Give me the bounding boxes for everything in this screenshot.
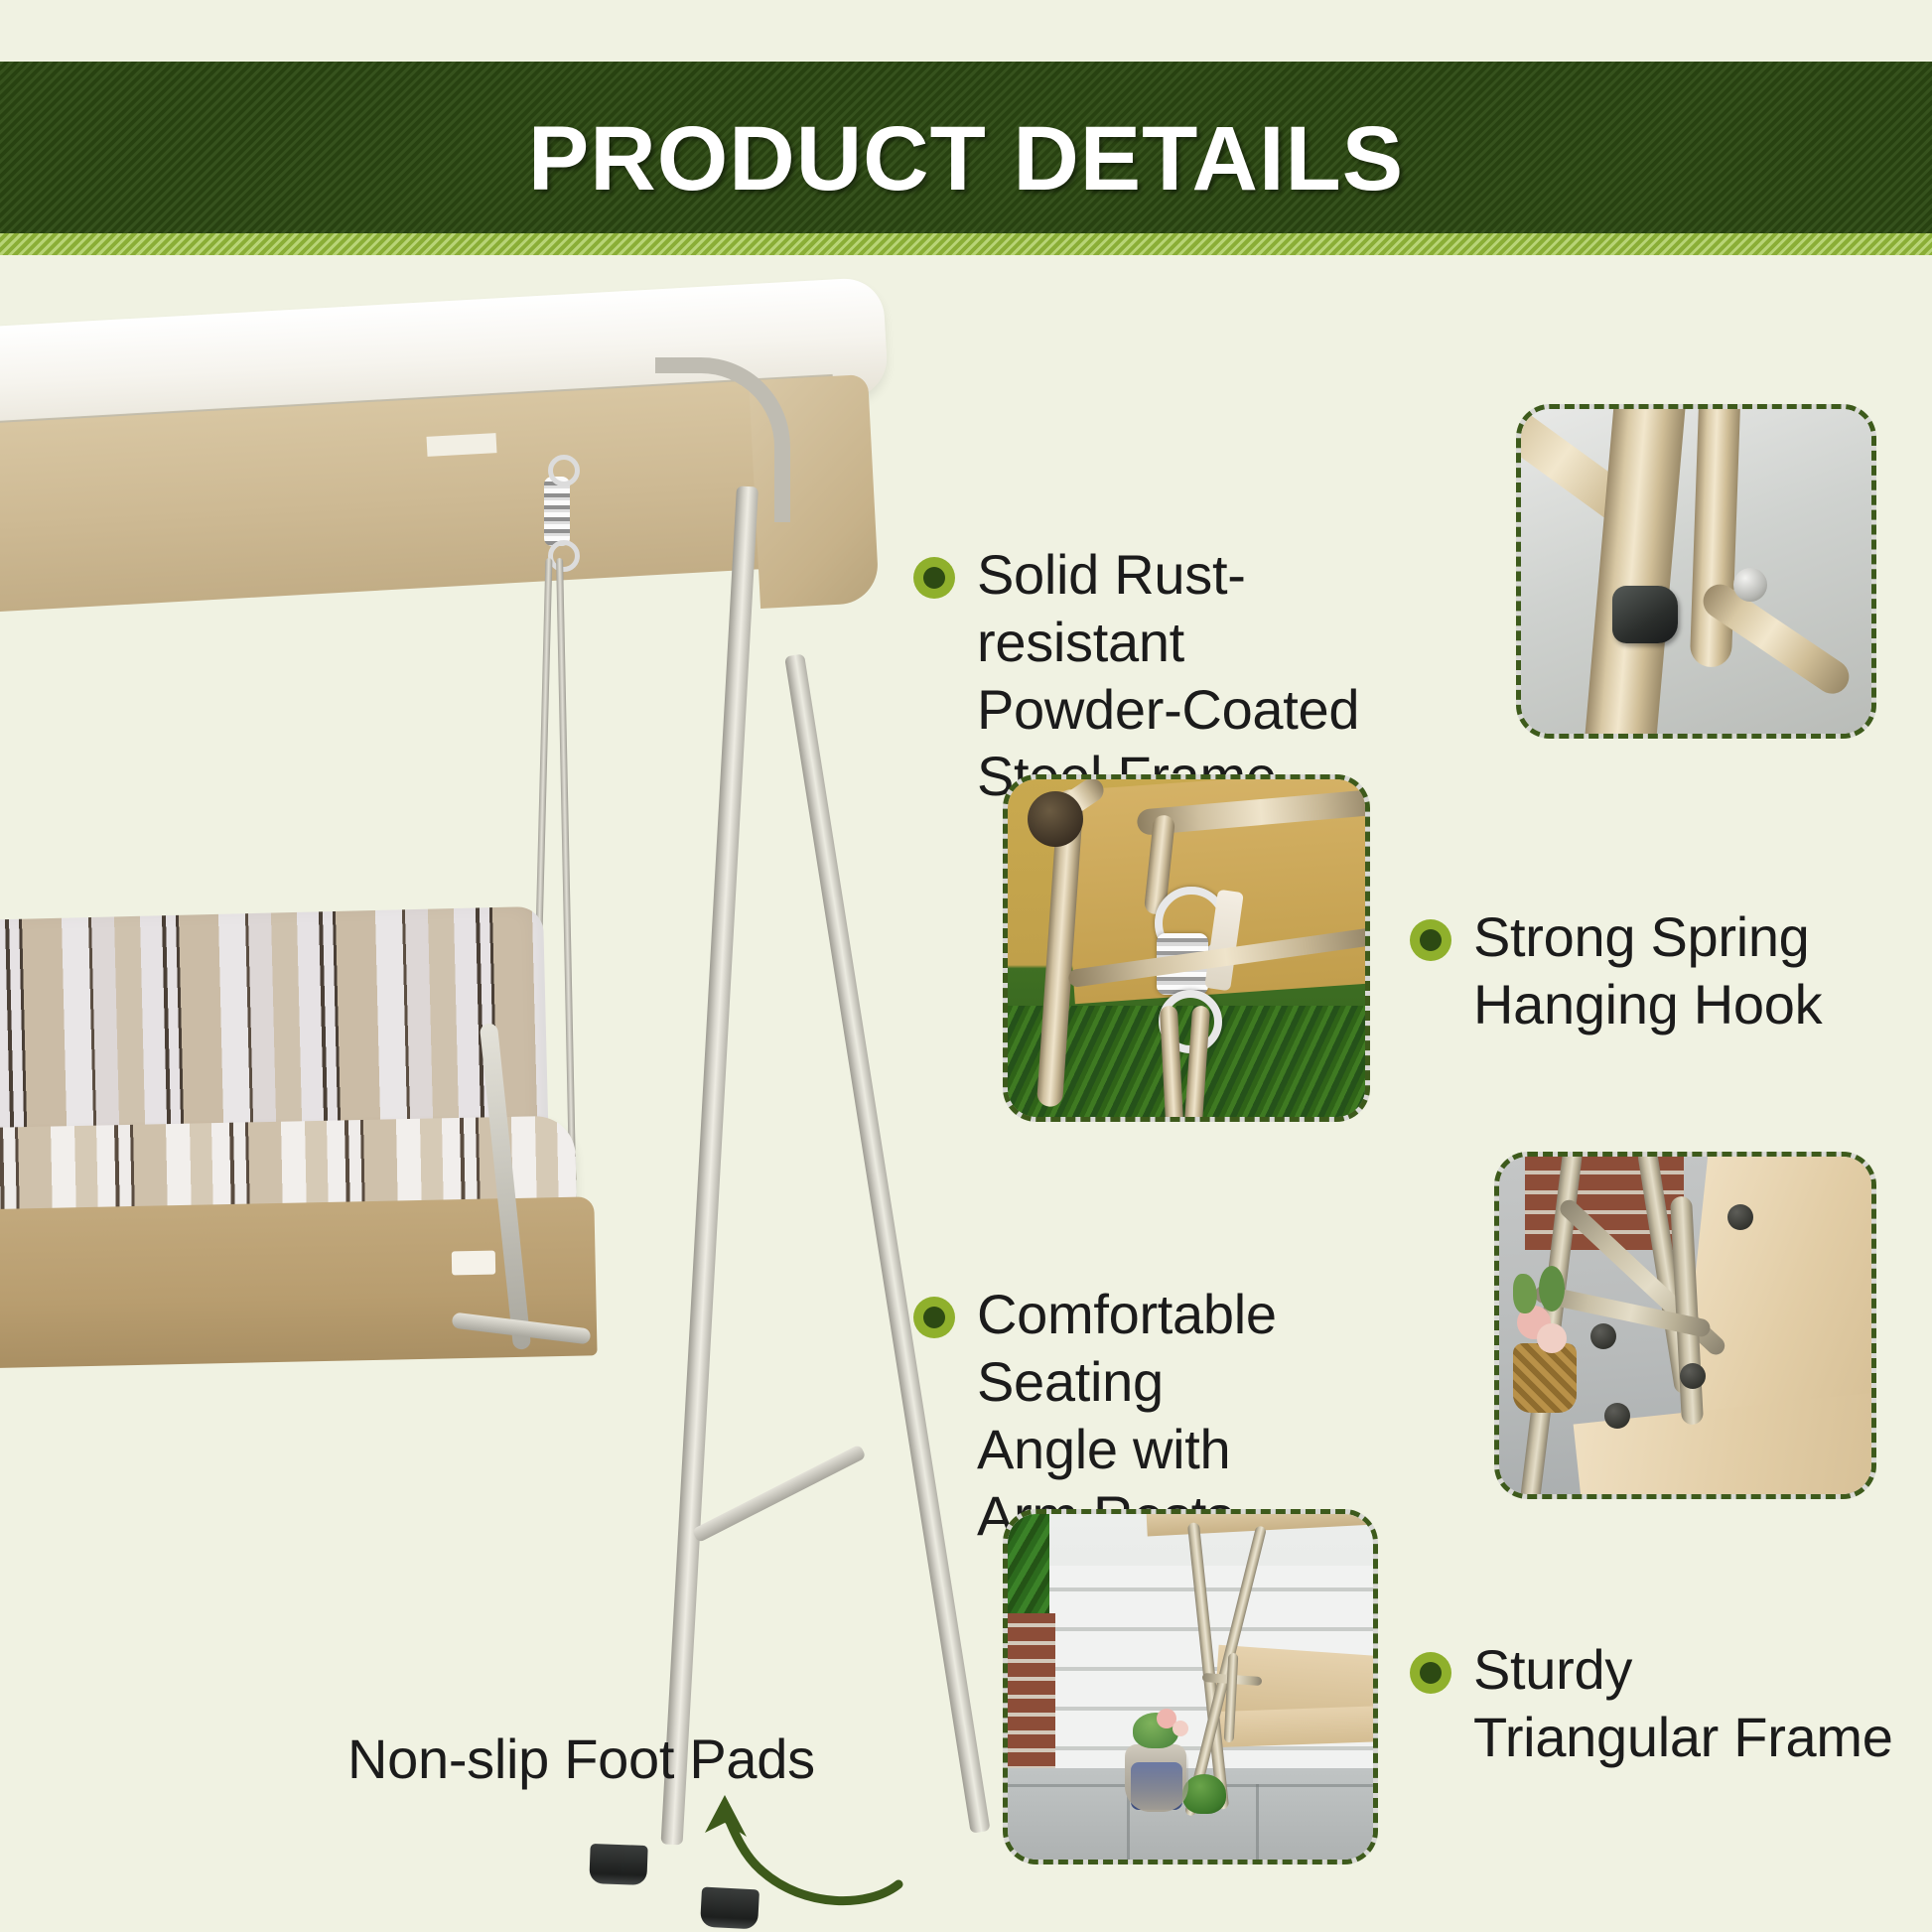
bullet-icon (913, 557, 955, 599)
photo-spring-hook[interactable] (1003, 774, 1370, 1122)
spring-hook-icon (544, 477, 570, 546)
spring-ring-upper (548, 455, 580, 486)
bullet-icon (1410, 919, 1451, 961)
photo-arm-rest[interactable] (1494, 1152, 1876, 1499)
callout-steel-frame: Solid Rust-resistant Powder-Coated Steel… (913, 541, 1380, 810)
frame-cross-brace (692, 1445, 867, 1544)
callout-triangular-frame-label: Sturdy Triangular Frame (1473, 1636, 1893, 1771)
infographic-page: PRODUCT DETAILS Solid Rust-r (0, 0, 1932, 1932)
callout-spring-hook-label: Strong Spring Hanging Hook (1473, 903, 1822, 1038)
spring-ring-lower (548, 540, 580, 572)
photo-triangular-frame[interactable] (1003, 1509, 1378, 1864)
banner-bottom-stripe (0, 233, 1932, 255)
callout-steel-frame-label: Solid Rust-resistant Powder-Coated Steel… (977, 541, 1380, 810)
bullet-icon (913, 1297, 955, 1338)
page-title: PRODUCT DETAILS (528, 113, 1404, 205)
bullet-icon (1410, 1652, 1451, 1694)
photo-frame-joint[interactable] (1516, 404, 1876, 739)
hero-product-photo (0, 328, 1003, 1932)
frame-leg-front (661, 485, 759, 1845)
seat-brand-tag (452, 1251, 495, 1276)
header-banner: PRODUCT DETAILS (0, 62, 1932, 255)
foot-pad-front-left (589, 1844, 647, 1885)
canopy-label-tag (427, 433, 497, 457)
frame-leg-rear (784, 653, 990, 1833)
callout-spring-hook: Strong Spring Hanging Hook (1410, 903, 1876, 1038)
foot-pads-arrow-icon (655, 1757, 933, 1916)
callout-triangular-frame: Sturdy Triangular Frame (1410, 1636, 1906, 1771)
